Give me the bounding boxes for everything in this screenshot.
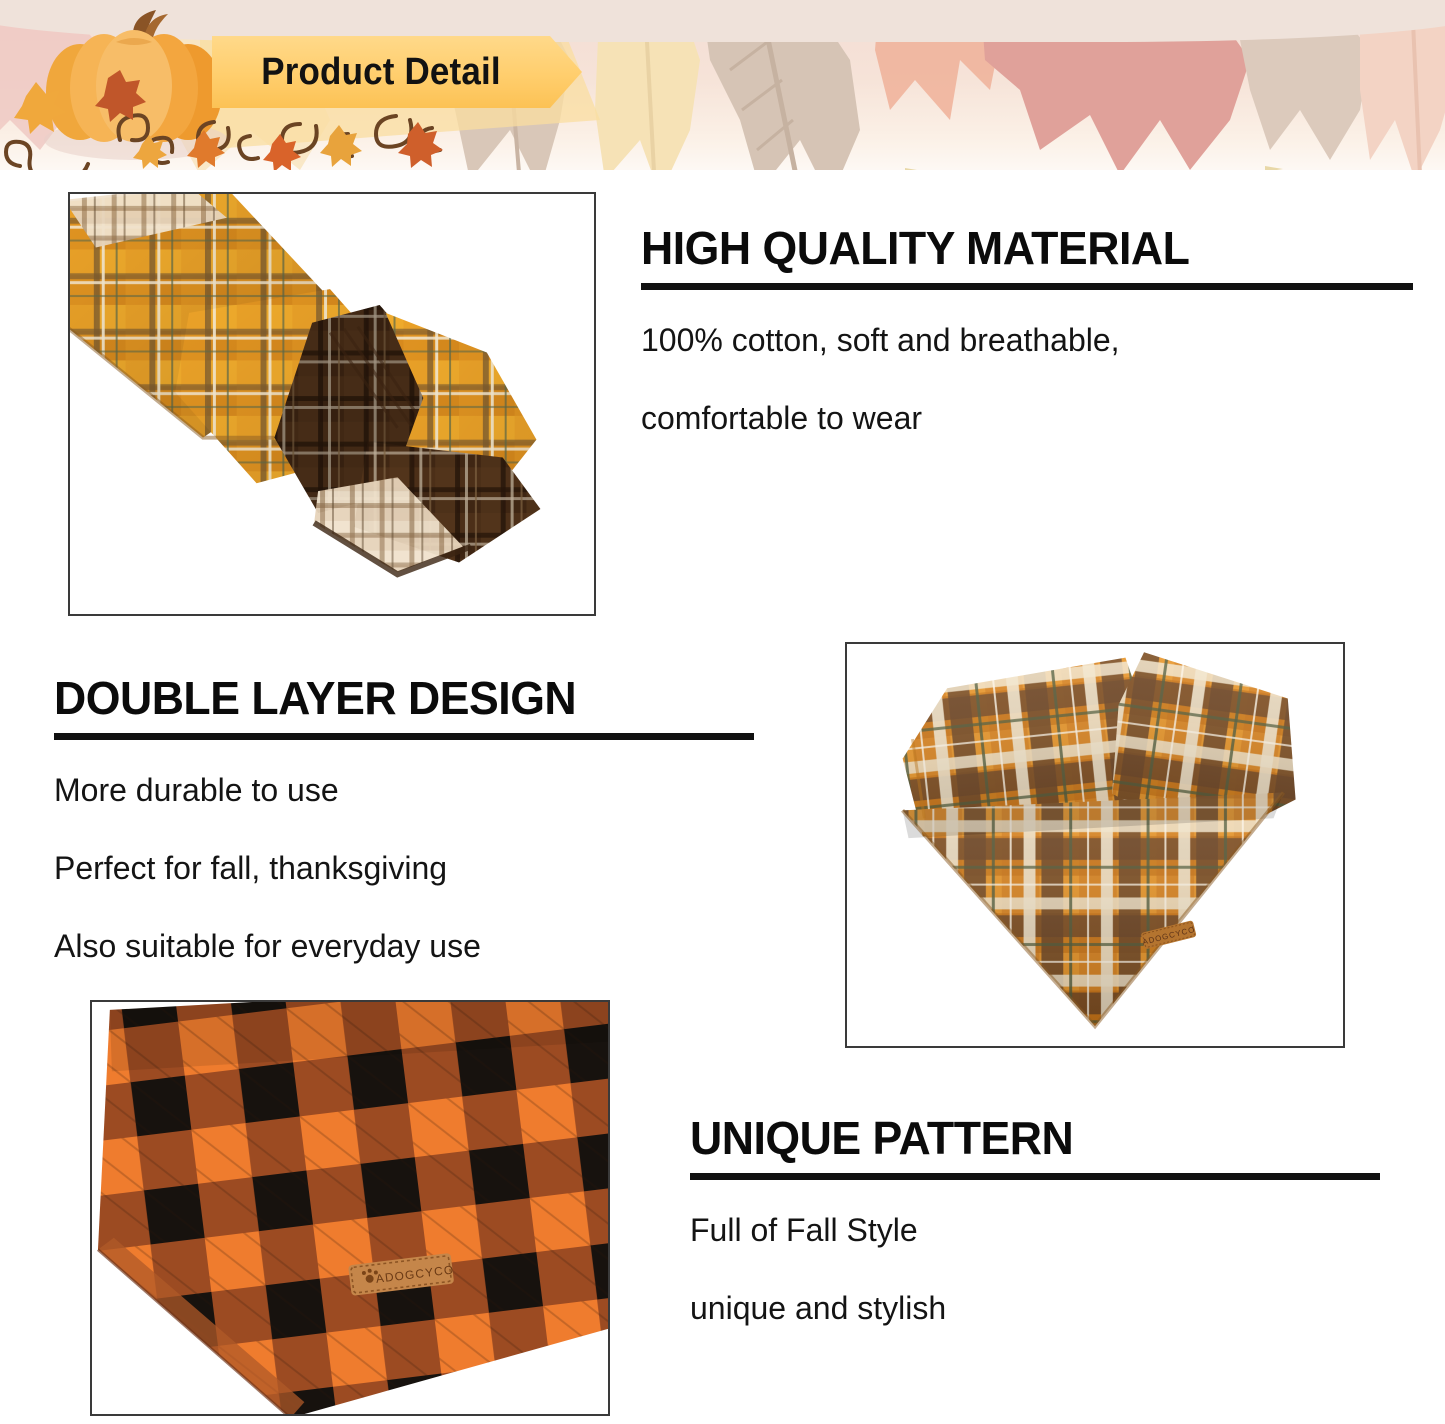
feature-line: Perfect for fall, thanksgiving [54, 848, 754, 888]
feature-line: More durable to use [54, 770, 754, 810]
product-detail-page: Product Detail [0, 0, 1445, 1424]
feature-high-quality-material: HIGH QUALITY MATERIAL 100% cotton, soft … [641, 222, 1413, 438]
product-detail-banner: Product Detail [212, 36, 582, 108]
feature-heading: DOUBLE LAYER DESIGN [54, 672, 733, 724]
feature-divider [54, 733, 754, 740]
photo-buffalo-check: ADOGCYCO [90, 1000, 610, 1416]
photo-folded-corner-plaid [68, 192, 596, 616]
buffalo-check-image: ADOGCYCO [92, 1002, 608, 1414]
feature-lines: 100% cotton, soft and breathable, comfor… [641, 320, 1413, 438]
banner-title: Product Detail [226, 36, 537, 108]
header-banner-area: Product Detail [0, 0, 1445, 196]
feature-line: unique and stylish [690, 1288, 1380, 1328]
feature-heading: HIGH QUALITY MATERIAL [641, 222, 1390, 274]
triangle-bandana-image: ADOGCYCO [847, 644, 1343, 1046]
feature-double-layer-design: DOUBLE LAYER DESIGN More durable to use … [54, 672, 754, 966]
feature-divider [641, 283, 1413, 290]
feature-lines: Full of Fall Style unique and stylish [690, 1210, 1380, 1328]
feature-line: 100% cotton, soft and breathable, [641, 320, 1413, 360]
feature-heading: UNIQUE PATTERN [690, 1112, 1359, 1164]
feature-unique-pattern: UNIQUE PATTERN Full of Fall Style unique… [690, 1112, 1380, 1328]
feature-line: Full of Fall Style [690, 1210, 1380, 1250]
feature-divider [690, 1173, 1380, 1180]
feature-line: comfortable to wear [641, 398, 1413, 438]
feature-line: Also suitable for everyday use [54, 926, 754, 966]
folded-plaid-bandana-image [70, 194, 594, 614]
photo-triangle-bandana: ADOGCYCO [845, 642, 1345, 1048]
feature-lines: More durable to use Perfect for fall, th… [54, 770, 754, 966]
